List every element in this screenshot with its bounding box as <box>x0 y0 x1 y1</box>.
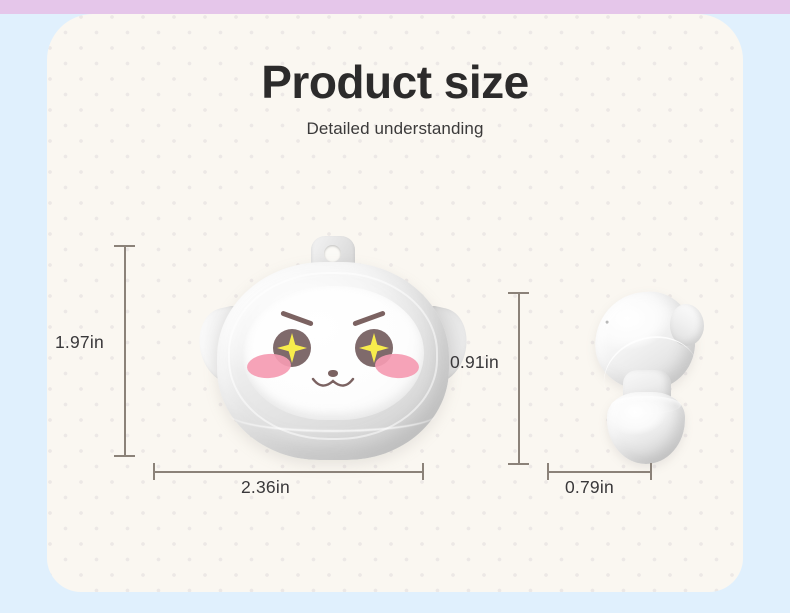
earbud-width-dimension-line <box>547 471 651 473</box>
case-height-label: 1.97in <box>55 332 104 353</box>
earbud-height-dimension-line <box>518 293 520 464</box>
mouth-icon <box>310 376 356 394</box>
earbud-height-cap-top <box>508 292 529 294</box>
charging-case-illustration <box>199 236 467 464</box>
case-body <box>217 262 449 460</box>
blush-right-icon <box>374 352 420 379</box>
case-width-cap-right <box>422 463 424 480</box>
case-width-dimension-line <box>153 471 423 473</box>
case-height-dimension-line <box>124 246 126 456</box>
case-height-cap-top <box>114 245 135 247</box>
blush-left-icon <box>246 352 292 379</box>
earbud-height-cap-bottom <box>508 463 529 465</box>
page-subtitle: Detailed understanding <box>47 119 743 139</box>
header: Product size Detailed understanding <box>47 58 743 139</box>
product-size-infographic: Product size Detailed understanding <box>0 0 790 613</box>
case-face-plate <box>242 286 424 420</box>
case-loop-hole <box>324 245 341 262</box>
earbud-illustration <box>593 292 701 464</box>
top-accent-band <box>0 0 790 14</box>
earbud-width-cap-left <box>547 463 549 480</box>
case-width-cap-left <box>153 463 155 480</box>
eyebrow-left-icon <box>280 310 314 326</box>
eyebrow-right-icon <box>352 310 386 326</box>
case-width-label: 2.36in <box>241 477 290 498</box>
earbud-width-label: 0.79in <box>565 477 614 498</box>
content-card: Product size Detailed understanding <box>47 14 743 592</box>
earbud-ear-tip <box>607 392 685 464</box>
page-title: Product size <box>47 58 743 106</box>
earbud-tip-highlight <box>611 396 681 414</box>
case-height-cap-bottom <box>114 455 135 457</box>
earbud-width-cap-right <box>650 463 652 480</box>
earbud-height-label: 0.91in <box>450 352 499 373</box>
earbud-mic-hole <box>605 320 608 323</box>
